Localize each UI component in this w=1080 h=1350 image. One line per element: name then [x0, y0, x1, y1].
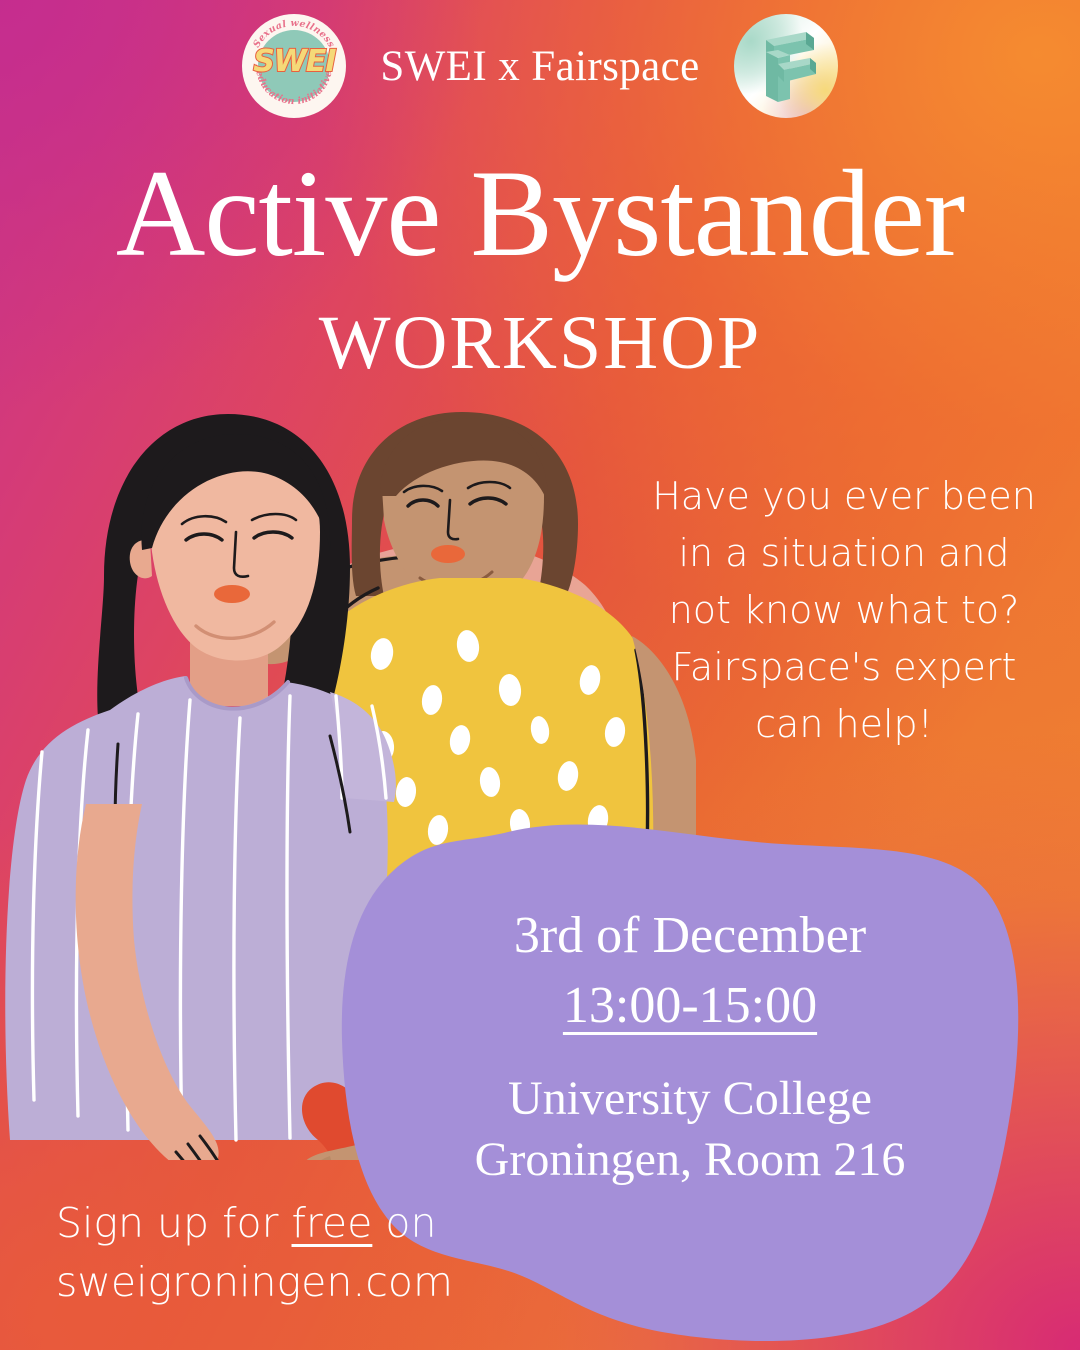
poster-header: Sexual wellness education initiative SWE…: [0, 12, 1080, 120]
left-person-lips: [214, 585, 250, 603]
signup-website-url[interactable]: sweigroningen.com: [56, 1253, 526, 1312]
signup-callout: Sign up for free on sweigroningen.com: [56, 1194, 526, 1313]
event-venue-line-1: University College: [400, 1068, 980, 1129]
signup-suffix: on: [372, 1199, 436, 1247]
signup-prefix: Sign up for: [56, 1199, 292, 1247]
poster-subtitle: WORKSHOP: [0, 305, 1080, 381]
poster-canvas: Sexual wellness education initiative SWE…: [0, 0, 1080, 1350]
event-time-underline: 13:00-15:00: [563, 977, 817, 1034]
poster-title: Active Bystander: [0, 152, 1080, 276]
swei-wordmark: SWEI: [242, 47, 346, 77]
question-line-2: in a situation and: [634, 525, 1054, 582]
question-line-4: Fairspace's expert: [634, 639, 1054, 696]
signup-line-1: Sign up for free on: [56, 1194, 526, 1253]
signup-free-emphasis: free: [292, 1199, 373, 1247]
event-date: 3rd of December: [400, 905, 980, 966]
question-line-1: Have you ever been: [634, 468, 1054, 525]
question-copy: Have you ever been in a situation and no…: [634, 468, 1054, 753]
fairspace-logo: [734, 14, 838, 118]
fairspace-f-icon: [734, 14, 838, 118]
event-venue: University College Groningen, Room 216: [400, 1068, 980, 1191]
right-person-lips: [431, 545, 465, 563]
collab-title: SWEI x Fairspace: [380, 42, 699, 91]
event-details: 3rd of December 13:00-15:00 University C…: [400, 905, 980, 1191]
swei-logo: Sexual wellness education initiative SWE…: [242, 14, 346, 118]
question-line-3: not know what to?: [634, 582, 1054, 639]
question-line-5: can help!: [634, 696, 1054, 753]
event-venue-line-2: Groningen, Room 216: [400, 1129, 980, 1190]
event-time: 13:00-15:00: [400, 972, 980, 1040]
